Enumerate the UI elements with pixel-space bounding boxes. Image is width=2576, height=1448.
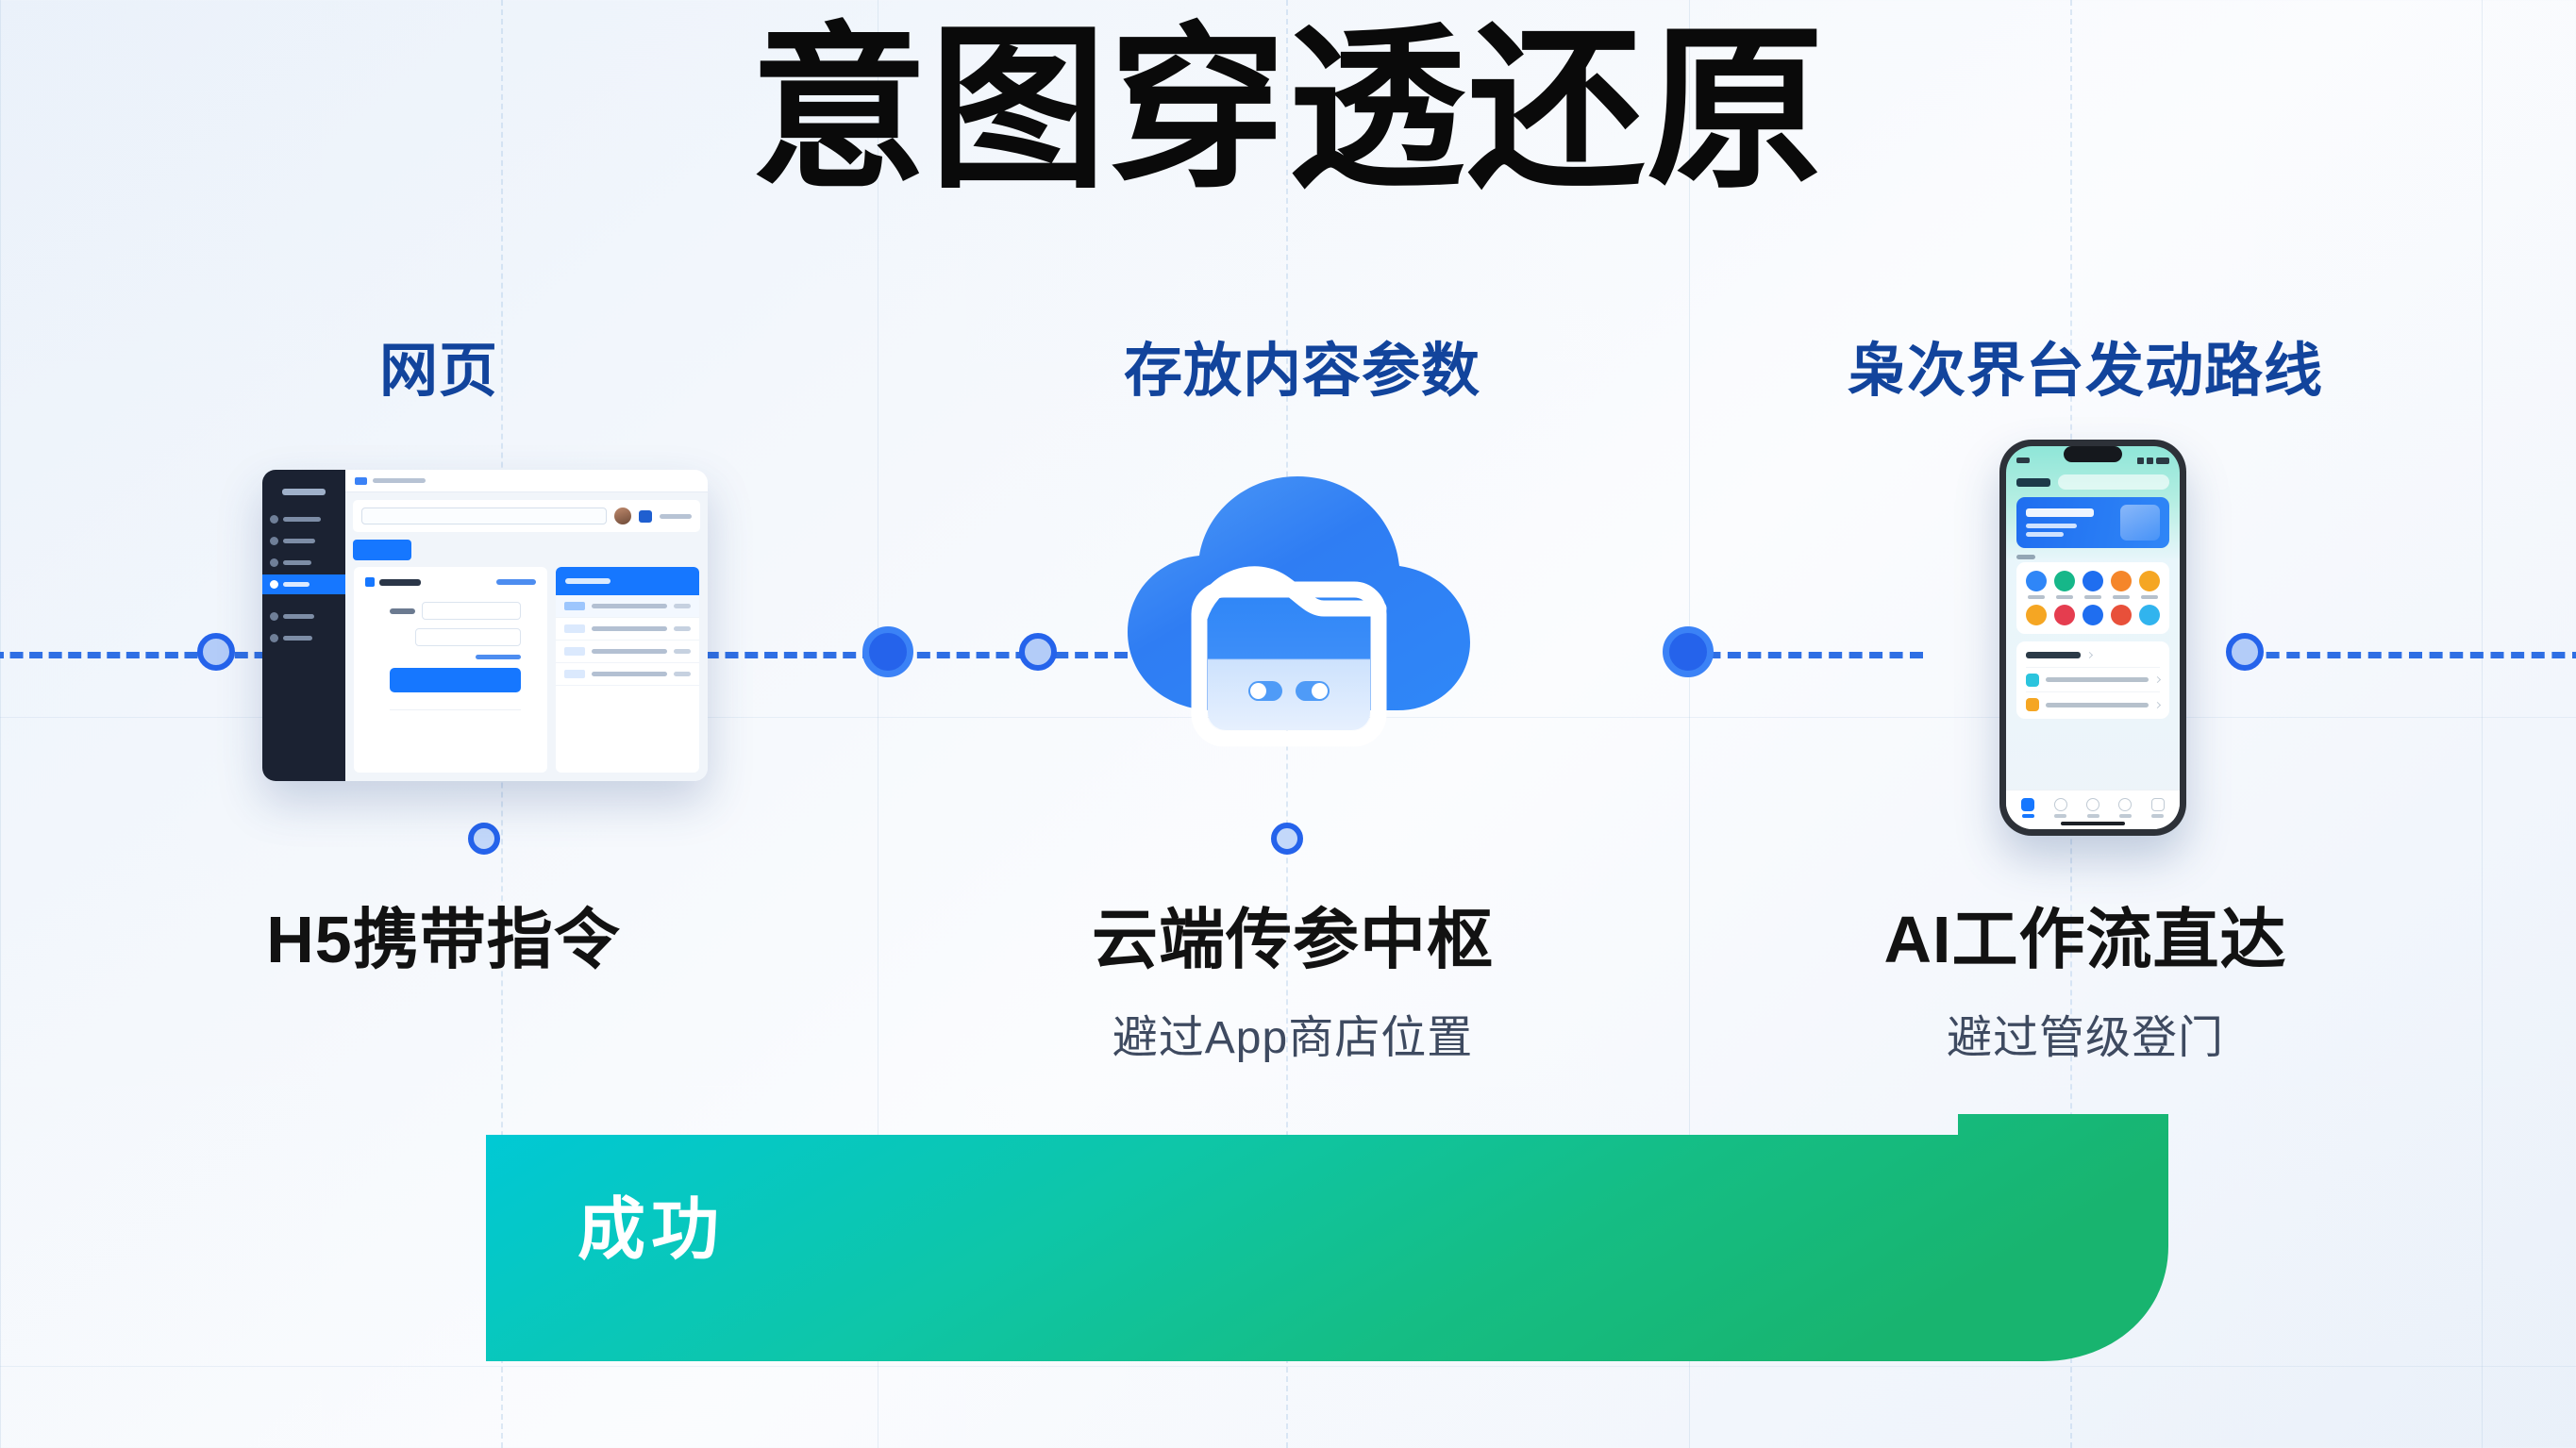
search-input[interactable] xyxy=(361,508,607,524)
page-title: 意图穿透还原 xyxy=(0,21,2576,198)
app-icon-7[interactable] xyxy=(2052,605,2077,625)
app-grid xyxy=(2016,562,2169,634)
app-icon-5[interactable] xyxy=(2137,571,2162,599)
dashboard-sidebar[interactable] xyxy=(262,470,345,781)
timeline-segment-4 xyxy=(2246,652,2576,658)
timeline-node-7[interactable] xyxy=(1271,823,1303,855)
form-card-title xyxy=(365,577,421,587)
side-list-panel xyxy=(556,567,699,773)
primary-action-button[interactable] xyxy=(353,540,411,560)
sidebar-item-4-active[interactable] xyxy=(262,574,345,594)
user-name xyxy=(660,514,692,519)
form-field-1[interactable] xyxy=(390,602,536,620)
timeline-node-5[interactable] xyxy=(2226,633,2264,671)
tab-home[interactable] xyxy=(2012,798,2044,818)
sidebar-item-5[interactable] xyxy=(262,607,345,626)
dashboard-logo xyxy=(262,477,345,506)
app-icon-8[interactable] xyxy=(2081,605,2105,625)
column-label-3: AI工作流直达 xyxy=(1821,887,2350,982)
table-row[interactable] xyxy=(556,595,699,618)
sidebar-item-6[interactable] xyxy=(262,628,345,648)
phone-app-screenshot[interactable] xyxy=(1999,440,2186,836)
sidebar-divider xyxy=(262,596,345,605)
list-item-header[interactable] xyxy=(2026,643,2160,668)
dynamic-island xyxy=(2064,446,2122,462)
section-label xyxy=(2016,555,2035,559)
side-list-header xyxy=(556,567,699,595)
app-icon-4[interactable] xyxy=(2109,571,2133,599)
column-label-1: H5携带指令 xyxy=(241,887,646,982)
app-icon-2[interactable] xyxy=(2052,571,2077,599)
app-grid-row xyxy=(2021,571,2165,599)
timeline-node-2[interactable] xyxy=(862,626,913,677)
timeline-node-6[interactable] xyxy=(468,823,500,855)
column-header-1: 网页 xyxy=(236,323,642,408)
tab-fourth[interactable] xyxy=(2109,798,2141,818)
divider xyxy=(390,709,521,710)
table-row[interactable] xyxy=(556,618,699,641)
list-item[interactable] xyxy=(2026,668,2160,692)
submit-button[interactable] xyxy=(390,668,521,692)
timeline-node-4[interactable] xyxy=(1663,626,1714,677)
sidebar-item-1[interactable] xyxy=(262,509,345,529)
form-card xyxy=(354,567,547,773)
sidebar-item-2[interactable] xyxy=(262,531,345,551)
app-icon-9[interactable] xyxy=(2109,605,2133,625)
list-item[interactable] xyxy=(2026,692,2160,717)
form-helper-link[interactable] xyxy=(476,655,521,659)
tab-second[interactable] xyxy=(2044,798,2076,818)
timeline-segment-2 xyxy=(878,652,1128,658)
status-badge xyxy=(639,510,652,523)
web-dashboard-screenshot[interactable] xyxy=(262,470,708,781)
app-icon-1[interactable] xyxy=(2024,571,2049,599)
column-sub-3: 避过管级登门 xyxy=(1821,1000,2350,1066)
record-list xyxy=(2016,641,2169,719)
breadcrumb xyxy=(345,470,708,492)
avatar[interactable] xyxy=(614,508,631,524)
home-indicator xyxy=(2061,822,2125,825)
promo-banner[interactable] xyxy=(2016,497,2169,548)
app-header xyxy=(2006,471,2180,497)
app-icon-10[interactable] xyxy=(2137,605,2162,625)
search-input[interactable] xyxy=(2058,474,2169,490)
dashboard-main xyxy=(345,470,708,781)
dashboard-topbar xyxy=(353,500,700,532)
timeline-node-1[interactable] xyxy=(197,633,235,671)
cloud-storage-icon xyxy=(1109,458,1496,778)
sidebar-item-3[interactable] xyxy=(262,553,345,573)
column-sub-2: 避过App商店位置 xyxy=(1029,1000,1557,1066)
app-grid-row xyxy=(2021,605,2165,625)
timeline-segment-left xyxy=(0,652,217,658)
timeline-node-3[interactable] xyxy=(1019,633,1057,671)
app-icon-6[interactable] xyxy=(2024,605,2049,625)
column-label-2: 云端传参中枢 xyxy=(1029,887,1557,982)
table-row[interactable] xyxy=(556,663,699,686)
table-row[interactable] xyxy=(556,641,699,663)
success-label: 成功 xyxy=(0,1173,1302,1273)
column-header-3: 枭次界台发动路线 xyxy=(1746,323,2425,408)
app-title xyxy=(2016,478,2050,487)
phone-screen xyxy=(2006,446,2180,829)
banner-illustration xyxy=(2120,505,2160,541)
timeline-segment-3 xyxy=(1687,652,1923,658)
column-header-2: 存放内容参数 xyxy=(1038,323,1566,408)
form-card-link[interactable] xyxy=(496,579,536,585)
form-field-2[interactable] xyxy=(390,628,536,646)
app-icon-3[interactable] xyxy=(2081,571,2105,599)
tab-third[interactable] xyxy=(2077,798,2109,818)
dashboard-nav[interactable] xyxy=(262,506,345,654)
tab-profile[interactable] xyxy=(2142,798,2174,818)
